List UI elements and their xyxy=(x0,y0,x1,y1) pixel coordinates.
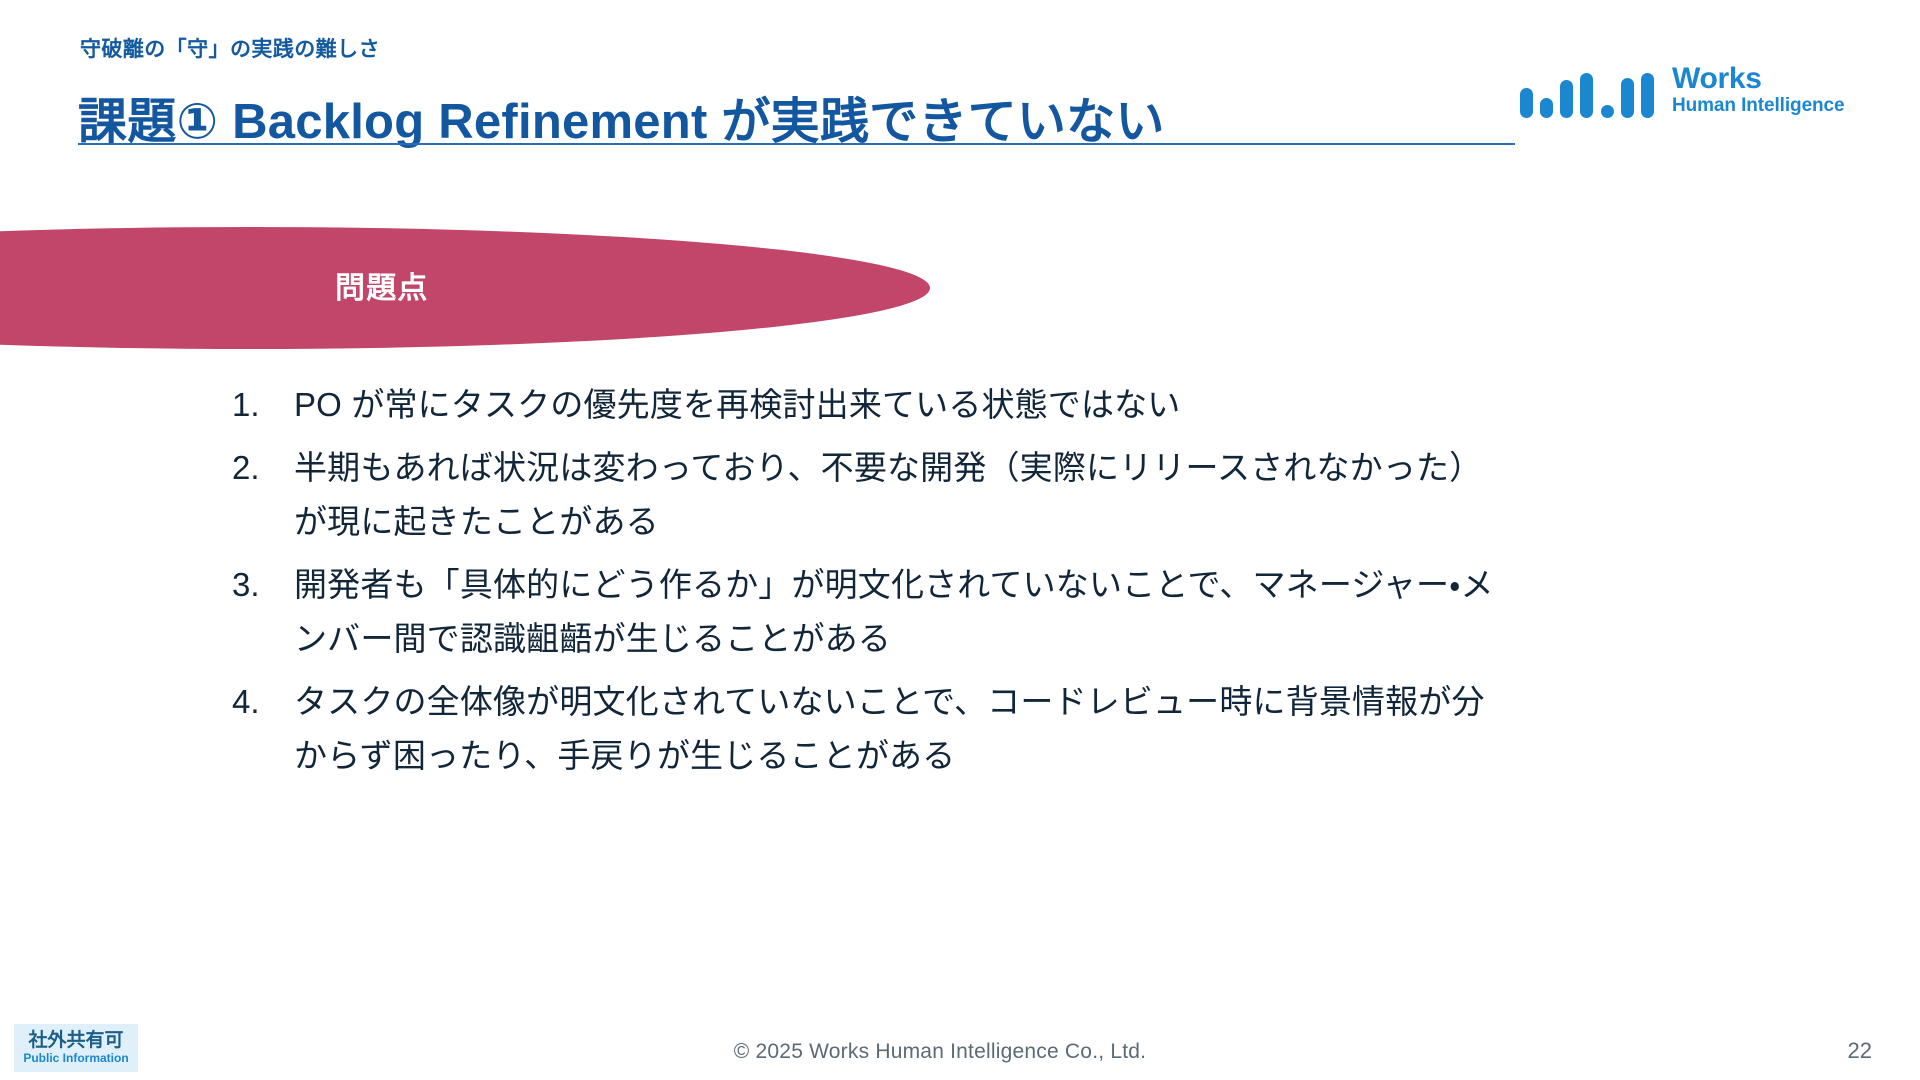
list-item: 3. 開発者も「具体的にどう作るか」が明文化されていないことで、マネージャー・メ… xyxy=(232,558,1792,665)
list-item-number: 3. xyxy=(232,558,294,611)
banner-ellipse-shape xyxy=(0,227,930,349)
list-item-text: 半期もあれば状況は変わっており、不要な開発（実際にリリースされなかった）が現に起… xyxy=(294,441,1499,548)
list-item: 2. 半期もあれば状況は変わっており、不要な開発（実際にリリースされなかった）が… xyxy=(232,441,1792,548)
page-number: 22 xyxy=(1848,1038,1872,1064)
list-item-text: 開発者も「具体的にどう作るか」が明文化されていないことで、マネージャー・メンバー… xyxy=(294,558,1499,665)
slide-root: 守破離の「守」の実践の難しさ 課題① Backlog Refinement が実… xyxy=(0,0,1920,1080)
logo-name-line2: Human Intelligence xyxy=(1672,94,1845,118)
works-human-intelligence-logo: Works Human Intelligence xyxy=(1520,62,1880,124)
logo-name-line1: Works xyxy=(1672,64,1845,94)
list-item: 4. タスクの全体像が明文化されていないことで、コードレビュー時に背景情報が分か… xyxy=(232,675,1792,782)
logo-bars-icon xyxy=(1520,70,1640,118)
list-item-number: 1. xyxy=(232,378,294,431)
banner-label: 問題点 xyxy=(335,263,429,307)
list-item: 1. PO が常にタスクの優先度を再検討出来ている状態ではない xyxy=(232,378,1792,431)
section-banner: 問題点 xyxy=(0,227,930,349)
list-item-text: PO が常にタスクの優先度を再検討出来ている状態ではない xyxy=(294,378,1499,431)
list-item-number: 2. xyxy=(232,441,294,494)
slide-header: 守破離の「守」の実践の難しさ 課題① Backlog Refinement が実… xyxy=(0,0,1920,150)
problem-list: 1. PO が常にタスクの優先度を再検討出来ている状態ではない 2. 半期もあれ… xyxy=(232,378,1792,792)
page-title: 課題① Backlog Refinement が実践できていない xyxy=(78,95,1165,150)
list-item-text: タスクの全体像が明文化されていないことで、コードレビュー時に背景情報が分からず困… xyxy=(294,675,1499,782)
copyright-text: © 2025 Works Human Intelligence Co., Ltd… xyxy=(0,1040,1920,1064)
title-underline-divider xyxy=(78,143,1515,145)
slide-footer: 社外共有可 Public Information © 2025 Works Hu… xyxy=(0,1018,1920,1080)
slide-eyebrow: 守破離の「守」の実践の難しさ xyxy=(80,33,380,63)
list-item-number: 4. xyxy=(232,675,294,728)
logo-wordmark: Works Human Intelligence xyxy=(1672,64,1845,118)
